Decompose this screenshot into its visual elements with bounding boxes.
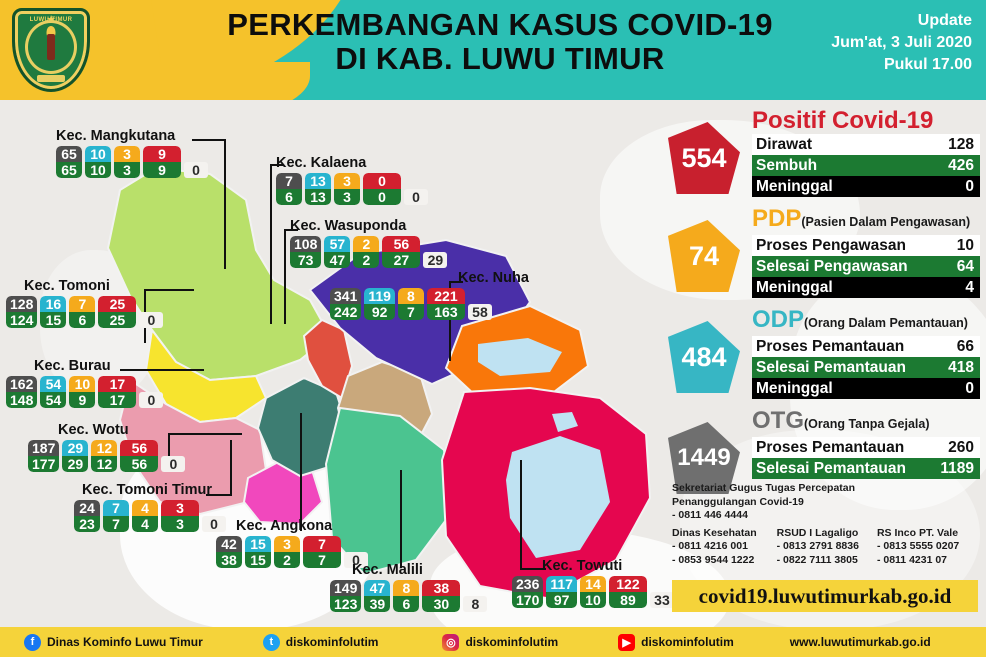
odp-subtitle: (Orang Dalam Pemantauan) xyxy=(804,316,968,330)
row-value: 10 xyxy=(957,236,974,255)
stat-pdp: 3 2 xyxy=(274,536,300,568)
torch-icon xyxy=(47,34,55,60)
stat-odp: 47 39 xyxy=(364,580,390,612)
row-label: Sembuh xyxy=(756,156,817,175)
logo-base xyxy=(37,75,65,82)
pdp-row-meninggal: Meninggal 4 xyxy=(752,277,980,298)
district-name: Kec. Tomoni Timur xyxy=(82,482,226,498)
leader-line-malili xyxy=(400,470,402,568)
row-label: Proses Pengawasan xyxy=(756,236,906,255)
pdp-heading: PDP(Pasien Dalam Pengawasan) xyxy=(752,206,980,235)
stat-meninggal: 33 xyxy=(650,592,674,608)
odp-row-proses: Proses Pemantauan 66 xyxy=(752,336,980,357)
leader-line-angkona xyxy=(300,413,302,531)
stat-odp: 15 15 xyxy=(245,536,271,568)
odp-row-meninggal: Meninggal 0 xyxy=(752,378,980,399)
stat-odp: 16 15 xyxy=(40,296,66,328)
district-card-tomoni[interactable]: Kec. Tomoni 128 124 16 15 7 6 25 25 0 xyxy=(6,278,163,328)
stat-otg: 42 38 xyxy=(216,536,242,568)
stat-pdp: 10 9 xyxy=(69,376,95,408)
footer-item-youtube[interactable]: ▶ diskominfolutim xyxy=(618,634,734,651)
positif-row-sembuh: Sembuh 426 xyxy=(752,155,980,176)
footer-label: diskominfolutim xyxy=(286,635,379,649)
footer-website-label: www.luwutimurkab.go.id xyxy=(790,635,931,649)
footer-website[interactable]: www.luwutimurkab.go.id xyxy=(790,635,931,649)
odp-heading: ODP(Orang Dalam Pemantauan) xyxy=(752,307,980,336)
col-phone-2: - 0822 7111 3805 xyxy=(777,554,859,568)
youtube-icon: ▶ xyxy=(618,634,635,651)
stat-otg: 162 148 xyxy=(6,376,37,408)
row-value: 66 xyxy=(957,337,974,356)
contact-line-2: Penanggulangan Covid-19 xyxy=(672,496,978,510)
pdp-row-proses: Proses Pengawasan 10 xyxy=(752,235,980,256)
stat-odp: 119 92 xyxy=(364,288,395,320)
district-stats: 149 123 47 39 8 6 38 30 8 xyxy=(330,580,487,612)
stat-meninggal: 0 xyxy=(404,189,428,205)
district-card-towuti[interactable]: Kec. Towuti 236 170 117 97 14 10 122 89 … xyxy=(512,558,674,608)
district-stats: 341 242 119 92 8 7 221 163 58 xyxy=(330,288,529,320)
stat-positif: 3 3 xyxy=(161,500,199,532)
district-stats: 162 148 54 54 10 9 17 17 0 xyxy=(6,376,163,408)
district-stats: 108 73 57 47 2 2 56 27 29 xyxy=(290,236,447,268)
update-info: Update Jum'at, 3 Juli 2020 Pukul 17.00 xyxy=(831,10,972,76)
leader-line-wasuponda xyxy=(284,229,286,324)
title-line-2: DI KAB. LUWU TIMUR xyxy=(190,42,810,76)
facebook-icon: f xyxy=(24,634,41,651)
twitter-icon: t xyxy=(263,634,280,651)
summary-category-pdp[interactable]: 74 PDP(Pasien Dalam Pengawasan) Proses P… xyxy=(668,206,980,298)
summary-category-odp[interactable]: 484 ODP(Orang Dalam Pemantauan) Proses P… xyxy=(668,307,980,399)
stat-otg: 236 170 xyxy=(512,576,543,608)
district-card-kalaena[interactable]: Kec. Kalaena 7 6 13 13 3 3 0 0 0 xyxy=(276,155,428,205)
stat-pdp: 7 6 xyxy=(69,296,95,328)
col-phone-1: - 0813 2791 8836 xyxy=(777,540,859,554)
stat-positif: 38 30 xyxy=(422,580,460,612)
district-stats: 187 177 29 29 12 12 56 56 0 xyxy=(28,440,185,472)
page-header: LUWU TIMUR ★ PERKEMBANGAN KASUS COVID-19… xyxy=(0,0,986,100)
col-phone-1: - 0813 5555 0207 xyxy=(877,540,959,554)
stat-odp: 7 7 xyxy=(103,500,129,532)
stat-pdp: 14 10 xyxy=(580,576,606,608)
district-card-burau[interactable]: Kec. Burau 162 148 54 54 10 9 17 17 0 xyxy=(6,358,163,408)
row-label: Dirawat xyxy=(756,135,812,154)
contact-block: Sekretariat Gugus Tugas Percepatan Penan… xyxy=(672,482,978,567)
stat-otg: 65 65 xyxy=(56,146,82,178)
footer-label: Dinas Kominfo Luwu Timur xyxy=(47,635,203,649)
stat-pdp: 4 4 xyxy=(132,500,158,532)
stat-positif: 56 27 xyxy=(382,236,420,268)
positif-heading: Positif Covid-19 xyxy=(752,108,980,134)
row-value: 4 xyxy=(965,278,974,297)
row-label: Meninggal xyxy=(756,278,833,297)
stat-pdp: 3 3 xyxy=(334,173,360,205)
otg-subtitle: (Orang Tanpa Gejala) xyxy=(804,417,930,431)
district-card-nuha[interactable]: Kec. Nuha 341 242 119 92 8 7 221 163 58 xyxy=(330,270,529,320)
stat-positif: 17 17 xyxy=(98,376,136,408)
district-name: Kec. Wasuponda xyxy=(290,218,447,234)
stat-meninggal: 8 xyxy=(463,596,487,612)
pdp-subtitle: (Pasien Dalam Pengawasan) xyxy=(801,215,970,229)
col-title: Dinas Kesehatan xyxy=(672,527,757,541)
row-value: 418 xyxy=(948,358,974,377)
row-label: Meninggal xyxy=(756,379,833,398)
stat-positif: 221 163 xyxy=(427,288,465,320)
positif-total-badge: 554 xyxy=(668,122,740,194)
summary-panel: 554 Positif Covid-19 Dirawat 128 Sembuh … xyxy=(668,108,980,488)
stat-positif: 122 89 xyxy=(609,576,647,608)
otg-heading: OTG(Orang Tanpa Gejala) xyxy=(752,408,980,437)
pdp-total-badge: 74 xyxy=(668,220,740,292)
row-label: Selesai Pemantauan xyxy=(756,358,906,377)
stat-odp: 13 13 xyxy=(305,173,331,205)
update-label: Update xyxy=(831,10,972,32)
update-time: Pukul 17.00 xyxy=(831,54,972,76)
footer-label: diskominfolutim xyxy=(641,635,734,649)
odp-total-badge: 484 xyxy=(668,321,740,393)
district-stats: 128 124 16 15 7 6 25 25 0 xyxy=(6,296,163,328)
row-value: 1189 xyxy=(940,459,974,478)
stat-meninggal: 0 xyxy=(139,392,163,408)
otg-row-selesai: Selesai Pemantauan 1189 xyxy=(752,458,980,479)
stat-positif: 56 56 xyxy=(120,440,158,472)
col-title: RS Inco PT. Vale xyxy=(877,527,959,541)
summary-category-otg[interactable]: 1449 OTG(Orang Tanpa Gejala) Proses Pema… xyxy=(668,408,980,479)
stat-pdp: 3 3 xyxy=(114,146,140,178)
row-label: Selesai Pengawasan xyxy=(756,257,908,276)
stat-otg: 128 124 xyxy=(6,296,37,328)
title-line-1: PERKEMBANGAN KASUS COVID-19 xyxy=(227,7,773,42)
district-card-malili[interactable]: Kec. Malili 149 123 47 39 8 6 38 30 8 xyxy=(330,562,487,612)
summary-category-positif[interactable]: 554 Positif Covid-19 Dirawat 128 Sembuh … xyxy=(668,108,980,197)
district-name: Kec. Burau xyxy=(34,358,163,374)
stat-positif: 0 0 xyxy=(363,173,401,205)
district-name: Kec. Wotu xyxy=(58,422,185,438)
leader-line-tomoni-timur-v xyxy=(230,440,232,496)
stat-meninggal: 0 xyxy=(184,162,208,178)
district-name: Kec. Malili xyxy=(352,562,487,578)
row-value: 260 xyxy=(948,438,974,457)
district-card-angkona[interactable]: Kec. Angkona 42 38 15 15 3 2 7 7 0 xyxy=(216,518,368,568)
footer-label: diskominfolutim xyxy=(465,635,558,649)
district-card-wasuponda[interactable]: Kec. Wasuponda 108 73 57 47 2 2 56 27 29 xyxy=(290,218,447,268)
contact-col-rsinco: RS Inco PT. Vale - 0813 5555 0207 - 0811… xyxy=(877,527,959,568)
district-name: Kec. Nuha xyxy=(458,270,529,286)
stat-odp: 29 29 xyxy=(62,440,88,472)
page-footer: f Dinas Kominfo Luwu Timur t diskominfol… xyxy=(0,627,986,657)
row-label: Proses Pemantauan xyxy=(756,438,904,457)
leader-line-mangkutana xyxy=(224,139,226,269)
otg-row-proses: Proses Pemantauan 260 xyxy=(752,437,980,458)
instagram-icon: ◎ xyxy=(442,634,459,651)
page-title: PERKEMBANGAN KASUS COVID-19 DI KAB. LUWU… xyxy=(190,8,810,76)
stat-otg: 187 177 xyxy=(28,440,59,472)
stat-positif: 9 9 xyxy=(143,146,181,178)
leader-line-towuti-v xyxy=(520,460,522,570)
stat-pdp: 8 7 xyxy=(398,288,424,320)
row-label: Meninggal xyxy=(756,177,833,196)
update-date: Jum'at, 3 Juli 2020 xyxy=(831,32,972,54)
stat-meninggal: 58 xyxy=(468,304,492,320)
stat-meninggal: 0 xyxy=(139,312,163,328)
stat-pdp: 8 6 xyxy=(393,580,419,612)
row-label: Selesai Pemantauan xyxy=(756,459,906,478)
district-card-mangkutana[interactable]: Kec. Mangkutana 65 65 10 10 3 3 9 9 0 xyxy=(56,128,208,178)
district-name: Kec. Mangkutana xyxy=(56,128,208,144)
stat-meninggal: 0 xyxy=(161,456,185,472)
row-label: Proses Pemantauan xyxy=(756,337,904,356)
district-name: Kec. Towuti xyxy=(542,558,674,574)
covid-website-banner[interactable]: covid19.luwutimurkab.go.id xyxy=(672,580,978,612)
contact-col-dinkes: Dinas Kesehatan - 0811 4216 001 - 0853 9… xyxy=(672,527,757,568)
footer-item-instagram[interactable]: ◎ diskominfolutim xyxy=(442,634,558,651)
district-stats: 236 170 117 97 14 10 122 89 33 xyxy=(512,576,674,608)
stat-positif: 25 25 xyxy=(98,296,136,328)
stat-odp: 117 97 xyxy=(546,576,577,608)
stat-otg: 149 123 xyxy=(330,580,361,612)
district-stats: 65 65 10 10 3 3 9 9 0 xyxy=(56,146,208,178)
stat-otg: 341 242 xyxy=(330,288,361,320)
stat-pdp: 12 12 xyxy=(91,440,117,472)
district-stats: 24 23 7 7 4 4 3 3 0 xyxy=(74,500,226,532)
district-card-wotu[interactable]: Kec. Wotu 187 177 29 29 12 12 56 56 0 xyxy=(28,422,185,472)
contact-hotline: - 0811 446 4444 xyxy=(672,509,978,523)
footer-item-twitter[interactable]: t diskominfolutim xyxy=(263,634,379,651)
stat-odp: 10 10 xyxy=(85,146,111,178)
leader-line-kalaena xyxy=(270,164,272,324)
positif-row-dirawat: Dirawat 128 xyxy=(752,134,980,155)
row-value: 64 xyxy=(957,257,974,276)
stat-odp: 54 54 xyxy=(40,376,66,408)
col-phone-2: - 0811 4231 07 xyxy=(877,554,959,568)
stat-pdp: 2 2 xyxy=(353,236,379,268)
contact-columns: Dinas Kesehatan - 0811 4216 001 - 0853 9… xyxy=(672,527,978,568)
district-name: Kec. Angkona xyxy=(236,518,368,534)
district-name: Kec. Kalaena xyxy=(276,155,428,171)
col-phone-1: - 0811 4216 001 xyxy=(672,540,757,554)
col-title: RSUD I Lagaligo xyxy=(777,527,859,541)
row-value: 0 xyxy=(965,177,974,196)
stat-otg: 7 6 xyxy=(276,173,302,205)
contact-line-1: Sekretariat Gugus Tugas Percepatan xyxy=(672,482,978,496)
col-phone-2: - 0853 9544 1222 xyxy=(672,554,757,568)
luwu-timur-crest-logo: LUWU TIMUR ★ xyxy=(12,8,90,92)
pdp-row-selesai: Selesai Pengawasan 64 xyxy=(752,256,980,277)
row-value: 0 xyxy=(965,379,974,398)
stat-otg: 108 73 xyxy=(290,236,321,268)
positif-row-meninggal: Meninggal 0 xyxy=(752,176,980,197)
odp-row-selesai: Selesai Pemantauan 418 xyxy=(752,357,980,378)
district-card-tomoni-timur[interactable]: Kec. Tomoni Timur 24 23 7 7 4 4 3 3 0 xyxy=(74,482,226,532)
district-stats: 7 6 13 13 3 3 0 0 0 xyxy=(276,173,428,205)
contact-col-rsud: RSUD I Lagaligo - 0813 2791 8836 - 0822 … xyxy=(777,527,859,568)
stat-odp: 57 47 xyxy=(324,236,350,268)
stat-meninggal: 29 xyxy=(423,252,447,268)
row-value: 128 xyxy=(948,135,974,154)
stat-otg: 24 23 xyxy=(74,500,100,532)
footer-item-facebook[interactable]: f Dinas Kominfo Luwu Timur xyxy=(24,634,203,651)
district-name: Kec. Tomoni xyxy=(24,278,163,294)
row-value: 426 xyxy=(948,156,974,175)
